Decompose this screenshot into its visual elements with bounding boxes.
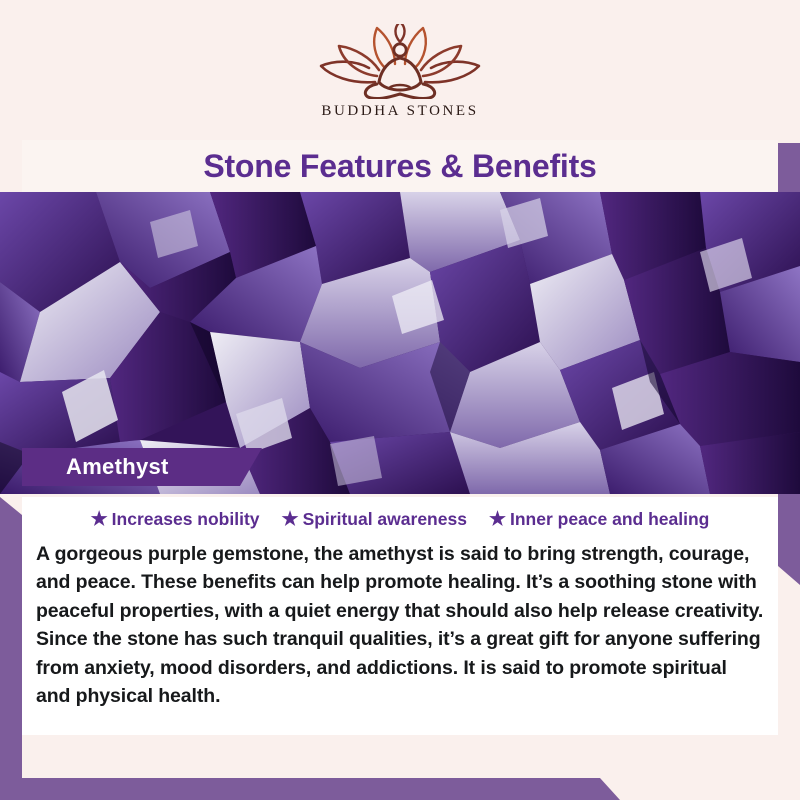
star-icon: ★ [489, 510, 506, 529]
benefit-item-3: ★ Inner peace and healing [489, 509, 709, 530]
benefit-label-2: Spiritual awareness [303, 509, 467, 530]
frame-left-accent [0, 497, 22, 800]
frame-bottom-accent [0, 778, 620, 800]
benefit-item-2: ★ Spiritual awareness [282, 509, 467, 530]
page-title: Stone Features & Benefits [203, 148, 596, 185]
stone-description: A gorgeous purple gemstone, the amethyst… [36, 540, 764, 711]
brand-header: BUDDHA STONES [0, 0, 800, 143]
brand-name: BUDDHA STONES [321, 103, 478, 120]
page-title-band: Stone Features & Benefits [22, 140, 778, 192]
lotus-meditation-icon [315, 24, 485, 99]
stone-name-banner: Amethyst [22, 448, 262, 486]
benefit-label-3: Inner peace and healing [510, 509, 709, 530]
star-icon: ★ [282, 510, 299, 529]
stone-name-label: Amethyst [66, 454, 169, 480]
infographic-page: BUDDHA STONES Stone Features & Benefits [0, 0, 800, 800]
benefits-list: ★ Increases nobility ★ Spiritual awarene… [22, 497, 778, 530]
star-icon: ★ [91, 510, 108, 529]
stone-info-panel: ★ Increases nobility ★ Spiritual awarene… [22, 497, 778, 735]
benefit-label-1: Increases nobility [112, 509, 260, 530]
benefit-item-1: ★ Increases nobility [91, 509, 260, 530]
